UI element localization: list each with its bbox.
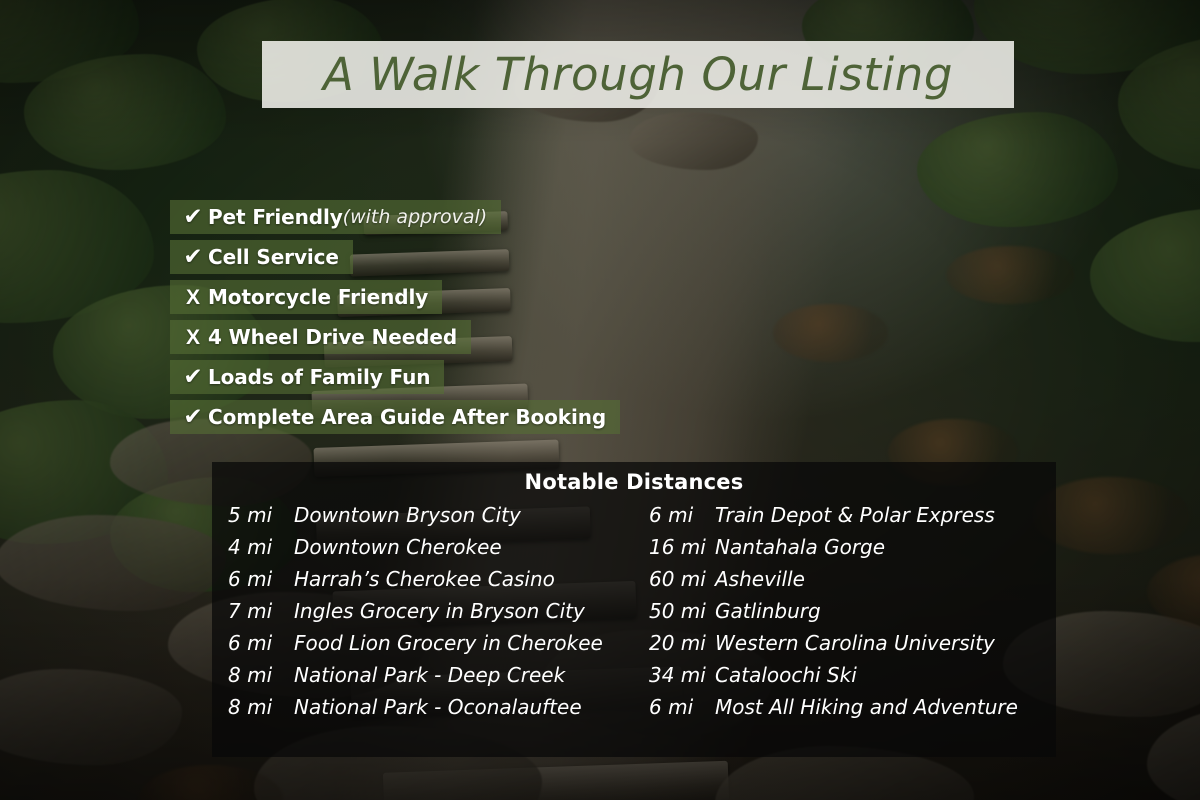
distance-place: Cataloochi Ski bbox=[715, 663, 857, 687]
distance-place: Asheville bbox=[715, 567, 805, 591]
feature-item-motorcycle-friendly: X Motorcycle Friendly bbox=[170, 280, 442, 314]
distance-value: 7 mi bbox=[228, 599, 294, 623]
distance-value: 34 mi bbox=[649, 663, 715, 687]
check-icon: ✔ bbox=[178, 206, 208, 229]
distance-row: 7 mi Ingles Grocery in Bryson City bbox=[228, 599, 635, 631]
distance-value: 50 mi bbox=[649, 599, 715, 623]
feature-item-pet-friendly: ✔ Pet Friendly (with approval) bbox=[170, 200, 501, 234]
cross-icon: X bbox=[178, 327, 208, 348]
feature-label: Pet Friendly bbox=[208, 205, 343, 229]
distance-row: 5 mi Downtown Bryson City bbox=[228, 503, 635, 535]
feature-label: Loads of Family Fun bbox=[208, 365, 430, 389]
distance-place: Food Lion Grocery in Cherokee bbox=[294, 631, 603, 655]
distance-value: 60 mi bbox=[649, 567, 715, 591]
distance-row: 60 mi Asheville bbox=[649, 567, 1056, 599]
feature-label: Cell Service bbox=[208, 245, 339, 269]
distance-place: Nantahala Gorge bbox=[715, 535, 885, 559]
distances-column-right: 6 mi Train Depot & Polar Express 16 mi N… bbox=[635, 503, 1056, 727]
distance-value: 6 mi bbox=[649, 503, 715, 527]
distance-value: 6 mi bbox=[228, 631, 294, 655]
distance-value: 8 mi bbox=[228, 695, 294, 719]
distance-place: Western Carolina University bbox=[715, 631, 995, 655]
distance-place: Train Depot & Polar Express bbox=[715, 503, 995, 527]
distance-row: 8 mi National Park - Deep Creek bbox=[228, 663, 635, 695]
feature-checklist: ✔ Pet Friendly (with approval) ✔ Cell Se… bbox=[170, 200, 620, 434]
check-icon: ✔ bbox=[178, 246, 208, 269]
distance-value: 4 mi bbox=[228, 535, 294, 559]
distance-row: 34 mi Cataloochi Ski bbox=[649, 663, 1056, 695]
distances-heading: Notable Distances bbox=[212, 470, 1056, 494]
distance-row: 6 mi Food Lion Grocery in Cherokee bbox=[228, 631, 635, 663]
distance-row: 20 mi Western Carolina University bbox=[649, 631, 1056, 663]
distance-place: Harrah’s Cherokee Casino bbox=[294, 567, 555, 591]
distance-row: 16 mi Nantahala Gorge bbox=[649, 535, 1056, 567]
notable-distances-panel: Notable Distances 5 mi Downtown Bryson C… bbox=[212, 462, 1056, 757]
distance-value: 8 mi bbox=[228, 663, 294, 687]
distance-value: 5 mi bbox=[228, 503, 294, 527]
listing-walkthrough-slide: A Walk Through Our Listing ✔ Pet Friendl… bbox=[0, 0, 1200, 800]
distance-place: Ingles Grocery in Bryson City bbox=[294, 599, 585, 623]
distance-row: 50 mi Gatlinburg bbox=[649, 599, 1056, 631]
distance-row: 6 mi Most All Hiking and Adventure bbox=[649, 695, 1056, 727]
distance-row: 6 mi Train Depot & Polar Express bbox=[649, 503, 1056, 535]
distance-place: Gatlinburg bbox=[715, 599, 821, 623]
distance-row: 8 mi National Park - Oconalauftee bbox=[228, 695, 635, 727]
feature-label: Complete Area Guide After Booking bbox=[208, 405, 606, 429]
page-title: A Walk Through Our Listing bbox=[323, 48, 953, 101]
title-banner: A Walk Through Our Listing bbox=[262, 41, 1014, 108]
distances-columns: 5 mi Downtown Bryson City 4 mi Downtown … bbox=[212, 503, 1056, 727]
distance-value: 16 mi bbox=[649, 535, 715, 559]
distances-column-left: 5 mi Downtown Bryson City 4 mi Downtown … bbox=[212, 503, 635, 727]
feature-note: (with approval) bbox=[343, 206, 488, 228]
distance-row: 4 mi Downtown Cherokee bbox=[228, 535, 635, 567]
distance-place: Most All Hiking and Adventure bbox=[715, 695, 1018, 719]
distance-place: Downtown Bryson City bbox=[294, 503, 521, 527]
feature-item-cell-service: ✔ Cell Service bbox=[170, 240, 353, 274]
check-icon: ✔ bbox=[178, 366, 208, 389]
cross-icon: X bbox=[178, 287, 208, 308]
check-icon: ✔ bbox=[178, 406, 208, 429]
distance-place: National Park - Deep Creek bbox=[294, 663, 565, 687]
feature-label: 4 Wheel Drive Needed bbox=[208, 325, 457, 349]
distance-value: 6 mi bbox=[649, 695, 715, 719]
distance-value: 6 mi bbox=[228, 567, 294, 591]
feature-item-area-guide: ✔ Complete Area Guide After Booking bbox=[170, 400, 620, 434]
distance-value: 20 mi bbox=[649, 631, 715, 655]
distance-place: National Park - Oconalauftee bbox=[294, 695, 582, 719]
distance-row: 6 mi Harrah’s Cherokee Casino bbox=[228, 567, 635, 599]
distance-place: Downtown Cherokee bbox=[294, 535, 502, 559]
feature-item-family-fun: ✔ Loads of Family Fun bbox=[170, 360, 444, 394]
feature-item-4wd-needed: X 4 Wheel Drive Needed bbox=[170, 320, 471, 354]
feature-label: Motorcycle Friendly bbox=[208, 285, 428, 309]
